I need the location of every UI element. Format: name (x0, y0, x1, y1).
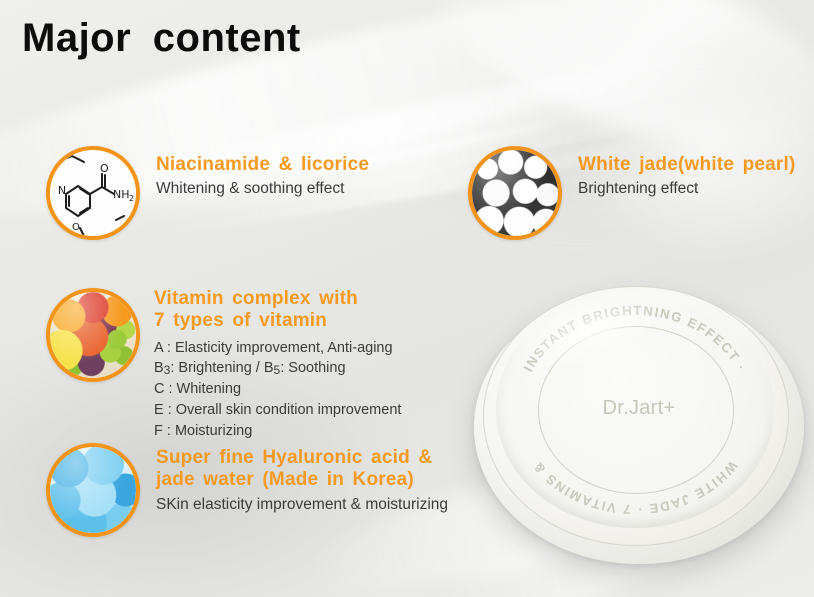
blue-water-droplets-icon (46, 443, 140, 537)
feature-subtext: Whitening & soothing effect (156, 179, 369, 200)
feature-heading-line2: jade water (Made in Korea) (156, 469, 448, 491)
brand-name: Dr.Jart+ (474, 397, 804, 420)
svg-text:NH: NH (113, 188, 130, 201)
svg-text:O: O (72, 222, 80, 233)
feature-subtext: Brightening effect (578, 179, 796, 200)
vitamin-list: A : Elasticity improvement, Anti-aging B… (154, 338, 401, 441)
vitamin-item-a: A : Elasticity improvement, Anti-aging (154, 338, 401, 359)
vitamin-item-f: F : Moisturizing (154, 421, 401, 442)
vitamin-item-e: E : Overall skin condition improvement (154, 400, 401, 421)
feature-white-jade: White jade(white pearl) Brightening effe… (468, 146, 796, 240)
feature-subtext: SKin elasticity improvement & moisturizi… (156, 495, 448, 516)
feature-hyaluronic-acid: Super fine Hyaluronic acid & jade water … (46, 443, 448, 537)
page-title: Major content (22, 16, 301, 61)
feature-heading: White jade(white pearl) (578, 154, 796, 176)
svg-text:O: O (100, 162, 109, 175)
svg-text:N: N (58, 184, 66, 197)
vitamin-item-b: B3: Brightening / B5: Soothing (154, 358, 401, 379)
dr-jart-jar: INSTANT BRIGHTNING EFFECT · WHITE JADE ·… (474, 284, 804, 570)
feature-vitamin-complex: Vitamin complex with 7 types of vitamin … (46, 288, 401, 441)
feature-niacinamide: N O NH 2 O Niacinamide & licorice Whiten… (46, 146, 369, 240)
assorted-fruit-icon (46, 288, 140, 382)
svg-text:2: 2 (129, 194, 134, 203)
niacinamide-molecule-icon: N O NH 2 O (46, 146, 140, 240)
feature-heading-line1: Vitamin complex with (154, 288, 401, 310)
feature-heading-line2: 7 types of vitamin (154, 310, 401, 332)
feature-heading: Niacinamide & licorice (156, 154, 369, 176)
white-pearls-icon (468, 146, 562, 240)
feature-heading-line1: Super fine Hyaluronic acid & (156, 447, 448, 469)
vitamin-item-c: C : Whitening (154, 379, 401, 400)
